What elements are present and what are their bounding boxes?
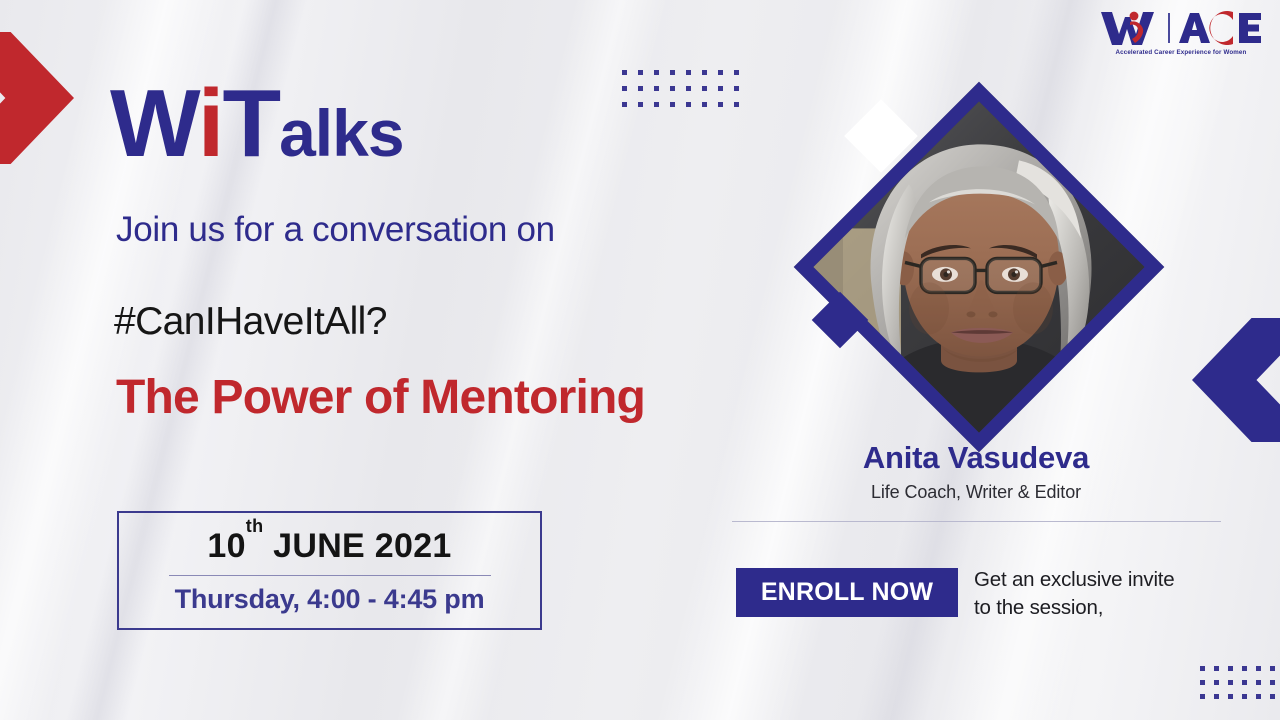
dot bbox=[622, 86, 627, 91]
logo-mark-row bbox=[1098, 8, 1264, 48]
dot bbox=[654, 102, 659, 107]
enroll-now-label: ENROLL NOW bbox=[761, 578, 933, 607]
wace-logo: Accelerated Career Experience for Women bbox=[1098, 8, 1264, 66]
speaker-role: Life Coach, Writer & Editor bbox=[730, 482, 1222, 503]
dot bbox=[702, 70, 707, 75]
title-part-i: i bbox=[198, 70, 223, 177]
dot bbox=[1214, 680, 1219, 685]
hashtag-line: #CanIHaveItAll? bbox=[114, 300, 387, 344]
dot bbox=[654, 70, 659, 75]
dot bbox=[1256, 680, 1261, 685]
date-divider bbox=[169, 575, 491, 576]
event-date: 10th JUNE 2021 bbox=[207, 527, 451, 566]
dot bbox=[638, 102, 643, 107]
dot bbox=[1270, 694, 1275, 699]
event-time: Thursday, 4:00 - 4:45 pm bbox=[175, 584, 485, 615]
dot bbox=[718, 102, 723, 107]
dot bbox=[1270, 680, 1275, 685]
speaker-photo-frame bbox=[800, 88, 1130, 418]
dot bbox=[1242, 694, 1247, 699]
dot bbox=[670, 102, 675, 107]
dot-grid-bottom bbox=[1200, 666, 1275, 699]
dot bbox=[686, 86, 691, 91]
dot bbox=[1256, 694, 1261, 699]
dot-grid-top bbox=[622, 70, 739, 107]
cta-note-line2: to the session, bbox=[974, 594, 1224, 622]
dot bbox=[1242, 680, 1247, 685]
dot bbox=[670, 86, 675, 91]
event-date-rest: JUNE 2021 bbox=[263, 527, 451, 565]
dot bbox=[686, 70, 691, 75]
section-divider bbox=[732, 521, 1221, 522]
dot bbox=[1256, 666, 1261, 671]
title-part-alks: alks bbox=[279, 96, 403, 170]
dot bbox=[734, 86, 739, 91]
subtitle: Join us for a conversation on bbox=[116, 210, 555, 250]
dot bbox=[1214, 666, 1219, 671]
title-part-t: T bbox=[222, 70, 279, 177]
dot bbox=[734, 102, 739, 107]
dot bbox=[702, 102, 707, 107]
event-date-box: 10th JUNE 2021 Thursday, 4:00 - 4:45 pm bbox=[117, 511, 542, 630]
logo-tagline: Accelerated Career Experience for Women bbox=[1098, 49, 1264, 56]
dot bbox=[1214, 694, 1219, 699]
dot bbox=[1200, 666, 1205, 671]
topic-title: The Power of Mentoring bbox=[116, 370, 645, 425]
dot bbox=[1200, 680, 1205, 685]
dot bbox=[638, 70, 643, 75]
speaker-name: Anita Vasudeva bbox=[730, 440, 1222, 476]
dot bbox=[622, 70, 627, 75]
dot bbox=[1228, 666, 1233, 671]
dot bbox=[622, 102, 627, 107]
dot bbox=[734, 70, 739, 75]
title-part-w: W bbox=[110, 70, 198, 177]
event-date-day: 10 bbox=[207, 527, 245, 565]
dot bbox=[1242, 666, 1247, 671]
page-title: WiTalks bbox=[110, 78, 404, 169]
w-woman-figure-icon bbox=[1099, 9, 1161, 47]
cta-note: Get an exclusive invite to the session, bbox=[974, 566, 1224, 621]
dot bbox=[670, 70, 675, 75]
event-date-ordinal: th bbox=[246, 516, 264, 536]
dot bbox=[1228, 694, 1233, 699]
dot bbox=[654, 86, 659, 91]
dot bbox=[702, 86, 707, 91]
ace-wordmark-icon bbox=[1177, 11, 1263, 45]
dot bbox=[1228, 680, 1233, 685]
enroll-now-button[interactable]: ENROLL NOW bbox=[736, 568, 958, 617]
dot bbox=[718, 86, 723, 91]
dot bbox=[1200, 694, 1205, 699]
dot bbox=[638, 86, 643, 91]
dot bbox=[686, 102, 691, 107]
dot bbox=[1270, 666, 1275, 671]
dot bbox=[718, 70, 723, 75]
logo-divider bbox=[1168, 13, 1170, 43]
event-poster: Accelerated Career Experience for Women … bbox=[0, 0, 1280, 720]
cta-note-line1: Get an exclusive invite bbox=[974, 566, 1224, 594]
